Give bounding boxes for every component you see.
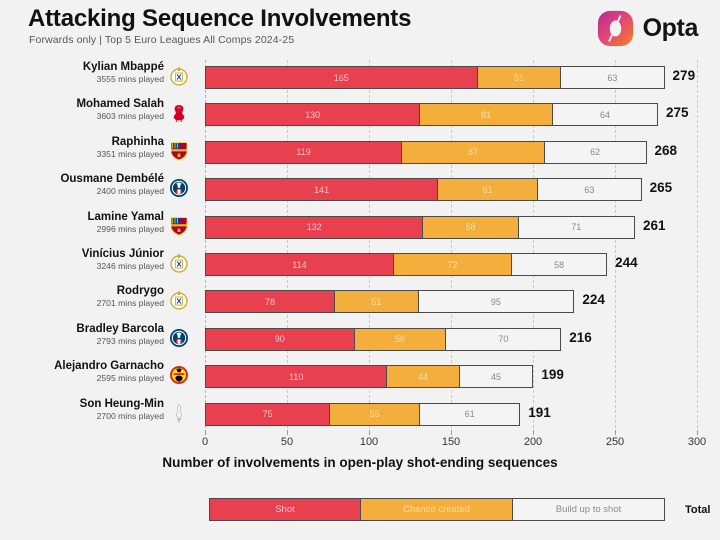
player-name: Ousmane Dembélé (14, 173, 164, 186)
club-badge-icon (168, 215, 190, 237)
axis-tick-label: 300 (688, 436, 706, 448)
axis-tick-label: 50 (281, 436, 293, 448)
row-total: 224 (582, 292, 605, 307)
opta-branding: Opta (597, 10, 698, 47)
player-minutes: 3603 mins played (14, 111, 164, 122)
stacked-bar[interactable]: 755561 (205, 403, 520, 426)
player-minutes: 2996 mins played (14, 224, 164, 235)
player-minutes: 3351 mins played (14, 149, 164, 160)
player-minutes: 2400 mins played (14, 186, 164, 197)
row-total: 261 (643, 218, 666, 233)
stacked-bar[interactable]: 905670 (205, 328, 561, 351)
bar-segment-chance[interactable]: 58 (422, 217, 517, 238)
player-label: Kylian Mbappé3555 mins played (14, 61, 164, 85)
bar-row: Alejandro Garnacho2595 mins played110444… (0, 358, 720, 395)
bar-segment-shot[interactable]: 90 (206, 329, 354, 350)
player-label: Alejandro Garnacho2595 mins played (14, 360, 164, 384)
bar-row: Lamine Yamal2996 mins played1325871261 (0, 209, 720, 246)
row-total: 275 (666, 105, 689, 120)
legend-item-build: Build up to shot (513, 498, 665, 521)
axis-tick (697, 430, 698, 435)
chart-subtitle: Forwards only | Top 5 Euro Leagues All C… (29, 34, 294, 46)
bar-segment-chance[interactable]: 72 (393, 254, 511, 275)
stacked-bar[interactable]: 1416163 (205, 178, 642, 201)
bar-segment-chance[interactable]: 81 (419, 104, 552, 125)
bar-row: Kylian Mbappé3555 mins played1655163279 (0, 59, 720, 96)
row-total: 279 (673, 68, 696, 83)
player-name: Rodrygo (14, 285, 164, 298)
bar-segment-shot[interactable]: 75 (206, 404, 329, 425)
row-total: 199 (541, 367, 564, 382)
club-badge-icon (168, 252, 190, 274)
bar-row: Rodrygo2701 mins played785195224 (0, 283, 720, 320)
bar-segment-build[interactable]: 45 (459, 366, 533, 387)
row-total: 191 (528, 405, 551, 420)
bar-segment-build[interactable]: 95 (418, 291, 574, 312)
player-label: Bradley Barcola2793 mins played (14, 323, 164, 347)
bar-segment-build[interactable]: 61 (419, 404, 519, 425)
bar-segment-build[interactable]: 64 (552, 104, 657, 125)
player-label: Rodrygo2701 mins played (14, 285, 164, 309)
bar-segment-chance[interactable]: 61 (437, 179, 537, 200)
bar-segment-shot[interactable]: 141 (206, 179, 437, 200)
bar-segment-shot[interactable]: 119 (206, 142, 401, 163)
player-label: Ousmane Dembélé2400 mins played (14, 173, 164, 197)
row-total: 244 (615, 255, 638, 270)
chart-container: Attacking Sequence Involvements Forwards… (0, 0, 720, 540)
legend-item-chance: Chance created (361, 498, 513, 521)
player-label: Vinícius Júnior3246 mins played (14, 248, 164, 272)
axis-tick-label: 100 (360, 436, 378, 448)
legend-item-shot: Shot (209, 498, 361, 521)
page-title: Attacking Sequence Involvements (28, 5, 411, 33)
club-badge-icon (168, 65, 190, 87)
bar-segment-build[interactable]: 63 (560, 67, 663, 88)
bar-segment-shot[interactable]: 110 (206, 366, 386, 387)
player-minutes: 3246 mins played (14, 261, 164, 272)
player-label: Raphinha3351 mins played (14, 136, 164, 160)
axis-tick (369, 430, 370, 435)
player-name: Alejandro Garnacho (14, 360, 164, 373)
stacked-bar[interactable]: 1147258 (205, 253, 607, 276)
x-axis-title: Number of involvements in open-play shot… (0, 455, 720, 470)
player-minutes: 2701 mins played (14, 298, 164, 309)
player-name: Bradley Barcola (14, 323, 164, 336)
player-name: Lamine Yamal (14, 211, 164, 224)
axis-tick-label: 0 (202, 436, 208, 448)
axis-tick (533, 430, 534, 435)
row-total: 216 (569, 330, 592, 345)
stacked-bar[interactable]: 785195 (205, 290, 574, 313)
bar-segment-build[interactable]: 71 (518, 217, 634, 238)
player-minutes: 2700 mins played (14, 411, 164, 422)
row-total: 268 (655, 143, 678, 158)
legend-total-label: Total (685, 498, 710, 521)
player-name: Mohamed Salah (14, 98, 164, 111)
stacked-bar[interactable]: 1198762 (205, 141, 647, 164)
axis-tick (205, 430, 206, 435)
bar-row: Ousmane Dembélé2400 mins played141616326… (0, 171, 720, 208)
axis-tick (287, 430, 288, 435)
player-minutes: 2595 mins played (14, 373, 164, 384)
chart-header: Attacking Sequence Involvements Forwards… (0, 0, 720, 58)
plot-area: Kylian Mbappé3555 mins played1655163279M… (0, 58, 720, 438)
club-badge-icon (168, 289, 190, 311)
axis-tick-label: 150 (442, 436, 460, 448)
stacked-bar[interactable]: 1325871 (205, 216, 635, 239)
club-badge-icon (168, 364, 190, 386)
player-name: Son Heung-Min (14, 398, 164, 411)
bar-segment-chance[interactable]: 55 (329, 404, 419, 425)
stacked-bar[interactable]: 1655163 (205, 66, 665, 89)
bar-segment-build[interactable]: 70 (445, 329, 560, 350)
club-badge-icon (168, 102, 190, 124)
bar-row: Raphinha3351 mins played1198762268 (0, 134, 720, 171)
player-label: Mohamed Salah3603 mins played (14, 98, 164, 122)
player-minutes: 2793 mins played (14, 336, 164, 347)
bar-segment-shot[interactable]: 78 (206, 291, 334, 312)
bar-segment-build[interactable]: 58 (511, 254, 606, 275)
bar-segment-shot[interactable]: 165 (206, 67, 477, 88)
axis-tick-label: 200 (524, 436, 542, 448)
player-name: Raphinha (14, 136, 164, 149)
bar-segment-chance[interactable]: 51 (477, 67, 561, 88)
club-badge-icon (168, 140, 190, 162)
legend: Shot Chance created Build up to shot (209, 498, 665, 521)
axis-tick (615, 430, 616, 435)
bar-row: Vinícius Júnior3246 mins played114725824… (0, 246, 720, 283)
bar-segment-shot[interactable]: 130 (206, 104, 419, 125)
opta-logo-icon (597, 10, 634, 47)
bar-row: Son Heung-Min2700 mins played755561191 (0, 396, 720, 433)
club-badge-icon (168, 177, 190, 199)
player-minutes: 3555 mins played (14, 74, 164, 85)
opta-logo-text: Opta (643, 14, 698, 43)
club-badge-icon (168, 327, 190, 349)
bar-segment-build[interactable]: 62 (544, 142, 646, 163)
player-name: Kylian Mbappé (14, 61, 164, 74)
axis-tick-label: 250 (606, 436, 624, 448)
bar-segment-chance[interactable]: 56 (354, 329, 446, 350)
bar-segment-build[interactable]: 63 (537, 179, 640, 200)
bar-segment-chance[interactable]: 44 (386, 366, 458, 387)
bar-segment-chance[interactable]: 87 (401, 142, 544, 163)
stacked-bar[interactable]: 1308164 (205, 103, 658, 126)
row-total: 265 (650, 180, 673, 195)
bar-segment-shot[interactable]: 114 (206, 254, 393, 275)
axis-tick (451, 430, 452, 435)
player-name: Vinícius Júnior (14, 248, 164, 261)
club-badge-icon (168, 402, 190, 424)
bar-segment-chance[interactable]: 51 (334, 291, 418, 312)
bar-row: Mohamed Salah3603 mins played1308164275 (0, 96, 720, 133)
bar-segment-shot[interactable]: 132 (206, 217, 422, 238)
player-label: Son Heung-Min2700 mins played (14, 398, 164, 422)
player-label: Lamine Yamal2996 mins played (14, 211, 164, 235)
bar-row: Bradley Barcola2793 mins played905670216 (0, 321, 720, 358)
stacked-bar[interactable]: 1104445 (205, 365, 533, 388)
